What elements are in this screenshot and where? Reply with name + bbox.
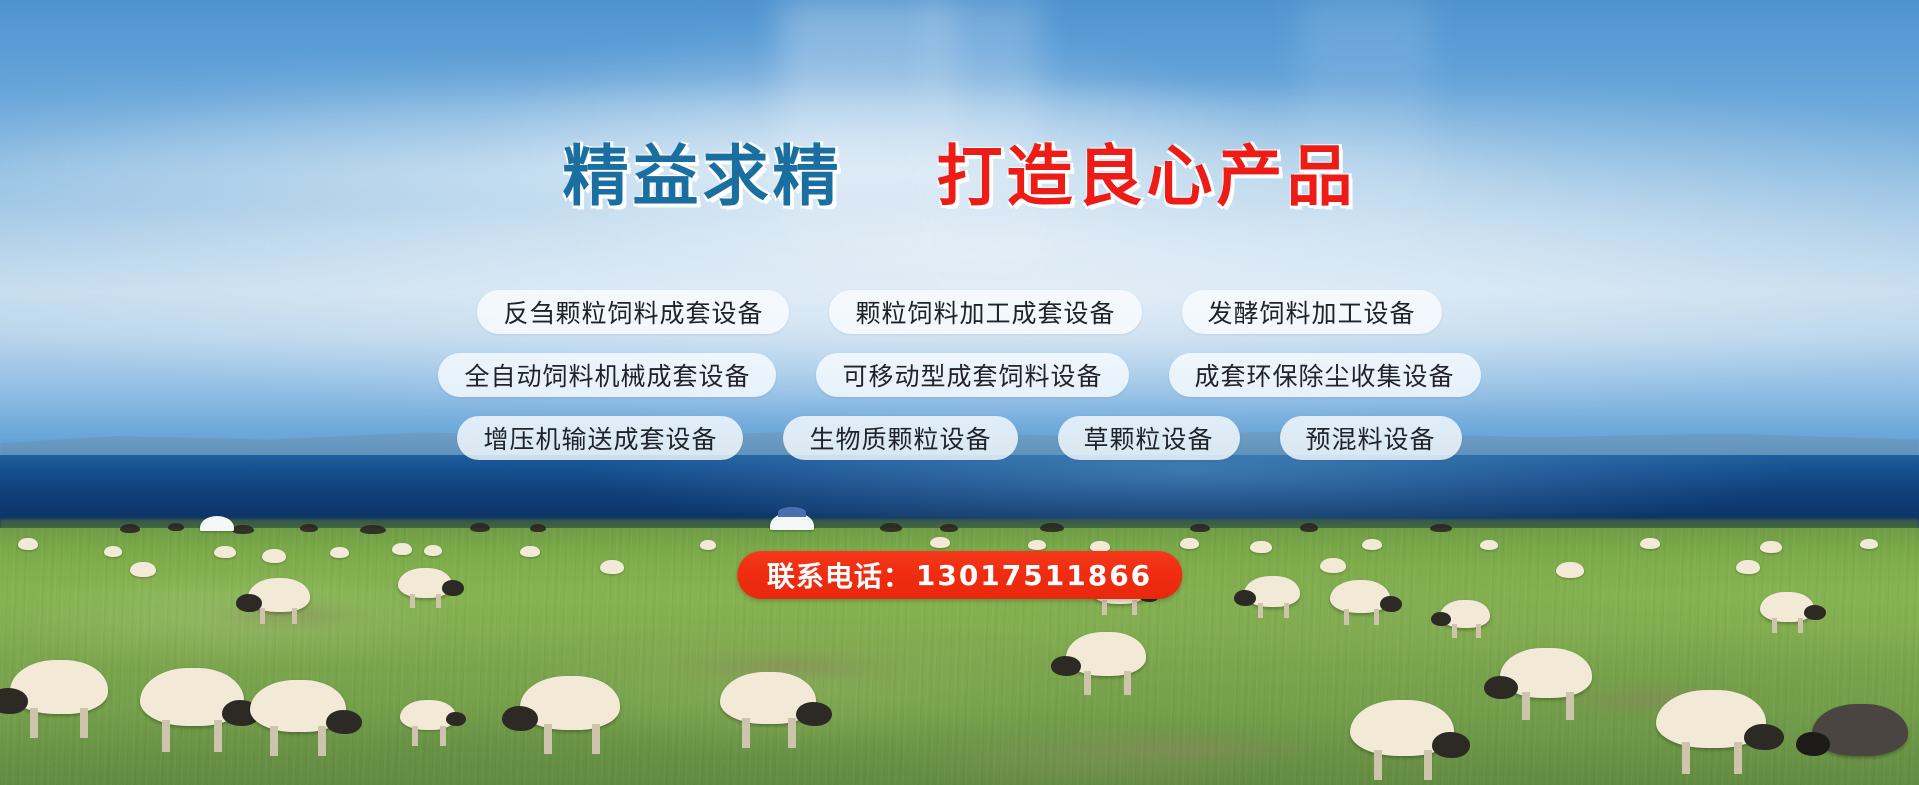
tag-ruminant-pellet-feed-complete-equipment[interactable]: 反刍颗粒饲料成套设备 [477, 290, 789, 334]
contact-phone-button[interactable]: 联系电话： 13017511866 [737, 551, 1182, 599]
sheep [1440, 600, 1490, 628]
sheep-head [446, 712, 466, 726]
distant-animal [530, 524, 546, 532]
sheep [520, 676, 620, 730]
sheep [140, 668, 244, 726]
sheep [250, 680, 346, 732]
sheep [1330, 580, 1390, 613]
sheep-head [236, 594, 262, 612]
distant-animal [1300, 523, 1318, 532]
sheep [1860, 539, 1878, 549]
sheep [1656, 690, 1766, 748]
sheep-head [796, 702, 832, 726]
sheep-leg [1424, 750, 1432, 780]
sheep-head [1484, 676, 1518, 699]
sheep-head [1431, 612, 1451, 626]
tag-mobile-complete-feed-equipment[interactable]: 可移动型成套饲料设备 [816, 353, 1128, 397]
sheep-head [1744, 724, 1784, 750]
sheep [1640, 538, 1660, 549]
sheep [424, 545, 442, 556]
tag-booster-conveying-complete-equipment[interactable]: 增压机输送成套设备 [457, 416, 743, 460]
yurt-roof [778, 507, 806, 517]
sheep-head [1234, 590, 1256, 606]
sheep-leg [270, 726, 278, 756]
sheep-leg [1566, 692, 1574, 720]
sheep [330, 547, 349, 558]
distant-animal [300, 524, 318, 532]
sheep-leg [260, 608, 265, 624]
sheep [1760, 592, 1814, 622]
sheep-leg [1374, 609, 1379, 625]
sheep [600, 560, 624, 574]
distant-animal [880, 523, 902, 532]
sheep-leg [162, 720, 170, 752]
sheep-leg [1258, 603, 1263, 618]
tag-fermented-feed-processing-equipment[interactable]: 发酵饲料加工设备 [1182, 290, 1442, 334]
sheep [1244, 576, 1300, 607]
sheep [930, 537, 950, 548]
sheep [1500, 648, 1592, 698]
sheep-leg [436, 594, 441, 608]
sheep [520, 546, 540, 557]
sheep [1250, 541, 1272, 553]
sheep [262, 549, 286, 563]
sheep [1812, 704, 1908, 756]
sheep-leg [30, 708, 38, 738]
sheep [1362, 539, 1382, 550]
sheep-leg [410, 594, 415, 608]
sheep [248, 578, 310, 612]
sheep [1350, 700, 1454, 756]
tag-row-2: 全自动饲料机械成套设备 可移动型成套饲料设备 成套环保除尘收集设备 [438, 353, 1480, 397]
product-tag-list: 反刍颗粒饲料成套设备 颗粒饲料加工成套设备 发酵饲料加工设备 全自动饲料机械成套… [0, 290, 1919, 460]
sheep [398, 568, 452, 598]
sheep-leg [1132, 600, 1137, 615]
sheep-leg [788, 718, 796, 748]
sheep-leg [80, 708, 88, 738]
sheep [1180, 538, 1199, 549]
sheep-head [502, 706, 538, 731]
sheep [1760, 541, 1782, 553]
sheep-leg [1374, 750, 1382, 780]
sheep [10, 660, 108, 714]
sheep-head [442, 580, 464, 596]
distant-animal [470, 523, 490, 532]
sheep-leg [318, 726, 326, 756]
distant-animal [1190, 524, 1210, 532]
sheep-leg [742, 718, 750, 748]
tag-premix-equipment[interactable]: 预混料设备 [1280, 416, 1462, 460]
tag-fully-automatic-feed-machinery-complete-equipment[interactable]: 全自动饲料机械成套设备 [438, 353, 776, 397]
sheep [130, 562, 156, 577]
sheep-lamb [400, 700, 456, 730]
sheep-leg [292, 608, 297, 624]
sheep-head [1380, 596, 1402, 612]
promo-banner: 精益求精 打造良心产品 反刍颗粒饲料成套设备 颗粒饲料加工成套设备 发酵饲料加工… [0, 0, 1919, 785]
sheep-leg [1102, 600, 1107, 615]
sheep [1736, 560, 1760, 574]
distant-animal [360, 525, 386, 534]
sheep [104, 546, 122, 557]
dirt-patch [980, 728, 1400, 768]
sheep [720, 672, 816, 724]
sheep [1028, 540, 1046, 550]
sheep-leg [1344, 609, 1349, 625]
distant-animal [168, 523, 184, 531]
sheep-leg [1084, 671, 1091, 695]
sheep-leg [1682, 742, 1690, 774]
sheep-leg [1124, 671, 1131, 695]
sheep-leg [1772, 618, 1777, 633]
contact-phone-label: 联系电话： [767, 555, 912, 595]
sheep [392, 543, 412, 555]
contact-phone-number: 13017511866 [916, 559, 1152, 592]
sheep-leg [544, 724, 552, 754]
sheep-head [326, 710, 362, 734]
sheep-leg [592, 724, 600, 754]
sheep-leg [1734, 742, 1742, 774]
sheep [18, 538, 38, 550]
tag-row-3: 增压机输送成套设备 生物质颗粒设备 草颗粒设备 预混料设备 [457, 416, 1461, 460]
sheep-head [1804, 605, 1826, 620]
tag-grass-pellet-equipment[interactable]: 草颗粒设备 [1058, 416, 1240, 460]
distant-animal [940, 524, 958, 532]
distant-animal [1430, 524, 1452, 532]
tag-row-1: 反刍颗粒饲料成套设备 颗粒饲料加工成套设备 发酵饲料加工设备 [477, 290, 1441, 334]
sheep [214, 546, 236, 558]
sheep-leg [214, 720, 222, 752]
distant-animal [232, 525, 254, 534]
sheep [1320, 558, 1346, 573]
sheep-leg [412, 726, 418, 746]
sheep-leg [440, 726, 446, 746]
sheep-leg [1452, 624, 1457, 638]
tag-complete-environmental-dust-collection-equipment[interactable]: 成套环保除尘收集设备 [1169, 353, 1481, 397]
page-title: 精益求精 打造良心产品 [0, 144, 1919, 210]
sheep-leg [1476, 624, 1481, 638]
sheep [1066, 632, 1146, 676]
headline-blue-segment: 精益求精 [563, 144, 843, 210]
distant-animal [120, 524, 140, 533]
sheep-head [1796, 732, 1830, 756]
sheep-leg [1522, 692, 1530, 720]
tag-biomass-pellet-equipment[interactable]: 生物质颗粒设备 [783, 416, 1017, 460]
distant-animal [1040, 523, 1064, 532]
sheep-head [1432, 732, 1470, 758]
headline-red-segment: 打造良心产品 [936, 144, 1356, 210]
sheep-leg [1284, 603, 1289, 618]
sheep-head [1051, 656, 1081, 676]
tag-pellet-feed-processing-complete-equipment[interactable]: 颗粒饲料加工成套设备 [829, 290, 1141, 334]
sheep [700, 540, 716, 550]
sheep [1556, 562, 1584, 578]
sheep-leg [1798, 618, 1803, 633]
sheep [1480, 540, 1498, 550]
